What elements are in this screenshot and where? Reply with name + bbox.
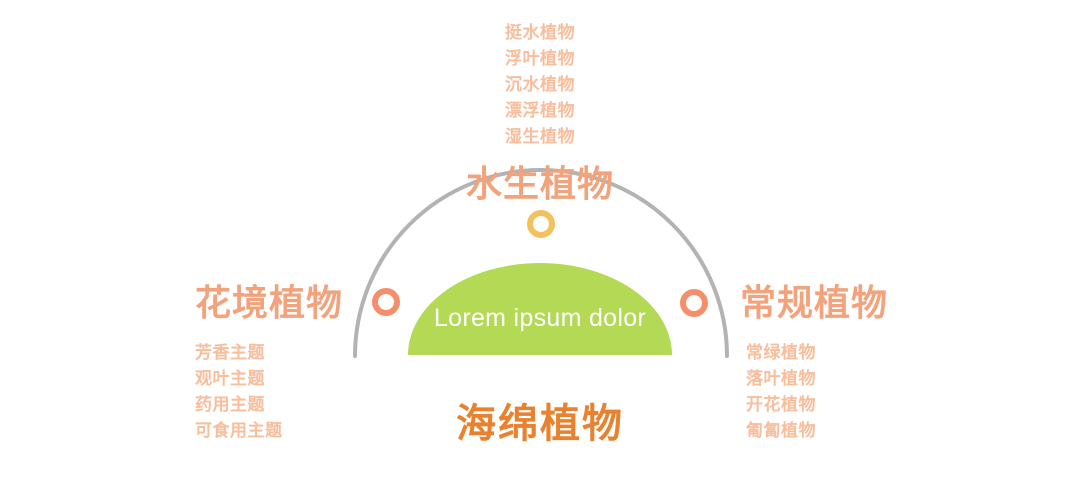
list-item: 沉水植物 [0, 72, 1080, 98]
list-item: 湿生植物 [0, 124, 1080, 150]
list-item: 挺水植物 [0, 20, 1080, 46]
node-ring-top-icon[interactable] [530, 213, 552, 235]
branch-aquatic-items: 挺水植物 浮叶植物 沉水植物 漂浮植物 湿生植物 [0, 20, 1080, 150]
list-item: 常绿植物 [746, 340, 960, 366]
node-ring-right-icon[interactable] [683, 292, 705, 314]
list-item: 浮叶植物 [0, 46, 1080, 72]
branch-aquatic[interactable]: 挺水植物 浮叶植物 沉水植物 漂浮植物 湿生植物 水生植物 [0, 20, 1080, 204]
list-item: 芳香主题 [195, 340, 395, 366]
list-item: 漂浮植物 [0, 98, 1080, 124]
branch-aquatic-title: 水生植物 [0, 164, 1080, 204]
list-item: 观叶主题 [195, 366, 395, 392]
branch-conventional-title: 常规植物 [740, 282, 960, 324]
branch-border-garden-title: 花境植物 [195, 282, 395, 324]
list-item: 落叶植物 [746, 366, 960, 392]
diagram-canvas: 挺水植物 浮叶植物 沉水植物 漂浮植物 湿生植物 水生植物 花境植物 芳香主题 … [0, 0, 1080, 484]
center-dome-label: Lorem ipsum dolor [408, 303, 672, 333]
page-title: 海绵植物 [0, 400, 1080, 448]
